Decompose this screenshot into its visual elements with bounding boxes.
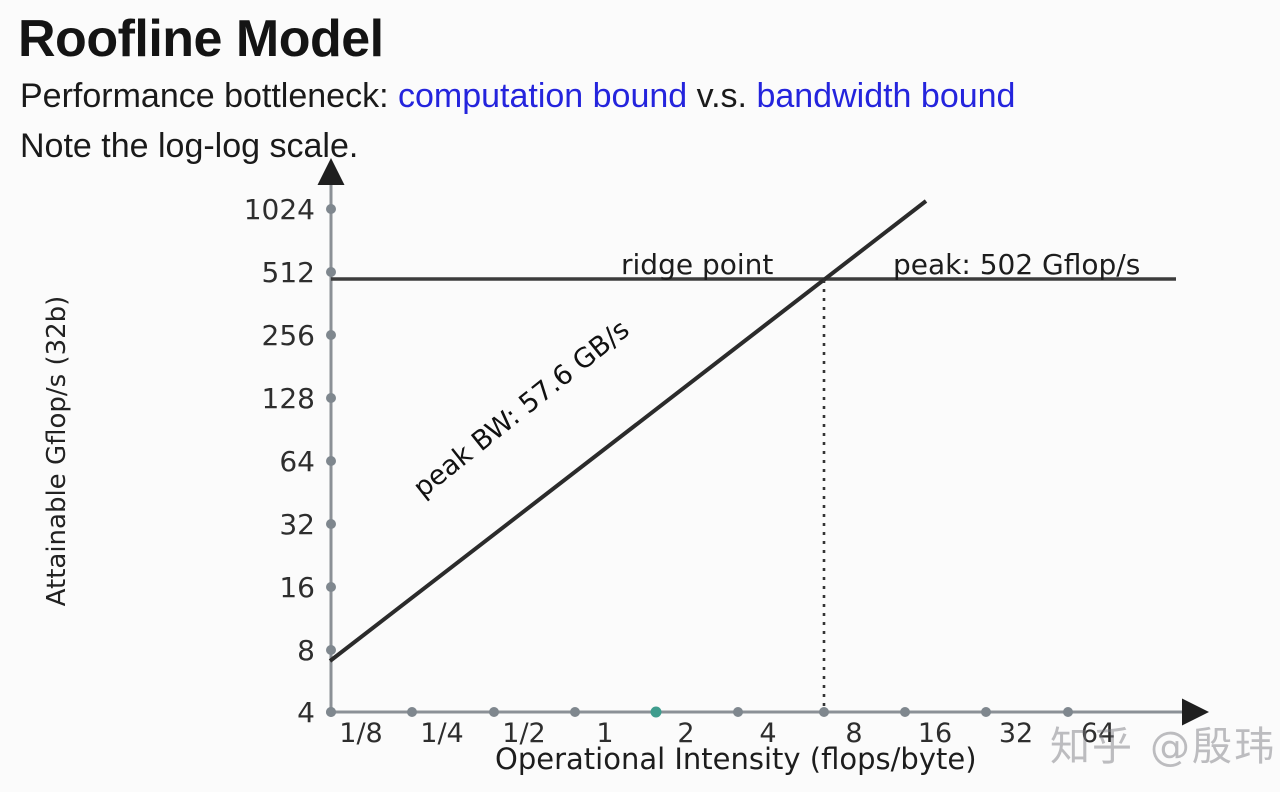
watermark-handle: @殷玮 xyxy=(1150,724,1276,770)
watermark-logo: 知乎 xyxy=(1050,724,1134,770)
slide-root: Roofline Model Performance bottleneck: c… xyxy=(0,0,1280,792)
x-tick-32: 32 xyxy=(971,718,1061,749)
annotation-ridge-point: ridge point xyxy=(621,248,773,281)
x-tick-dot-highlight xyxy=(651,707,662,718)
y-axis-label: Attainable Gflop/s (32b) xyxy=(42,286,72,616)
x-tick-quarter: 1/4 xyxy=(397,718,487,749)
x-axis-label: Operational Intensity (flops/byte) xyxy=(495,742,977,776)
x-tick-eighth: 1/8 xyxy=(316,718,406,749)
chart-canvas xyxy=(0,0,1280,792)
roofline-chart: 1024 512 256 128 64 32 16 8 4 1/8 1/4 1/… xyxy=(0,0,1280,792)
watermark: 知乎@殷玮 xyxy=(1050,714,1276,772)
annotation-peak-compute: peak: 502 Gflop/s xyxy=(893,248,1140,281)
